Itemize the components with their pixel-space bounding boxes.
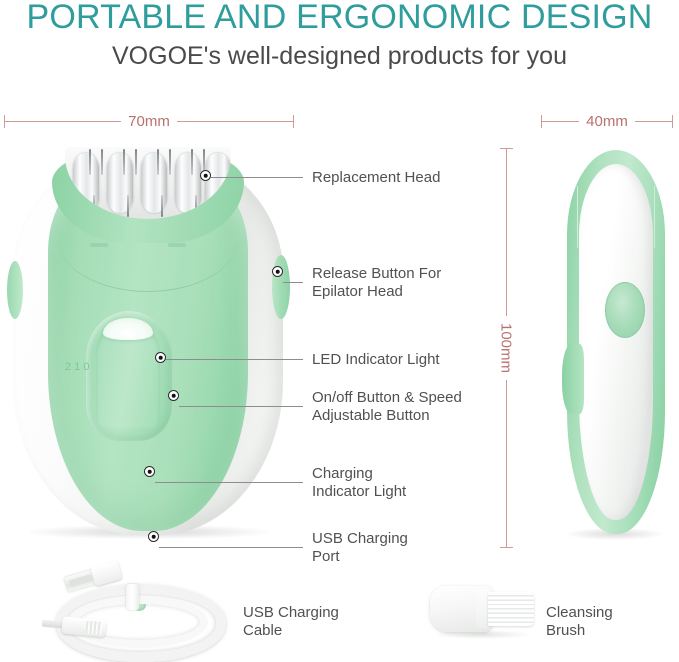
tweezer-pin bbox=[157, 149, 159, 175]
callout-onoff-button: On/off Button & Speed Adjustable Button bbox=[179, 389, 462, 424]
head-notch bbox=[90, 243, 108, 247]
usb-plug-body bbox=[90, 560, 122, 586]
page-title: PORTABLE AND ERGONOMIC DESIGN bbox=[0, 0, 679, 37]
callout-dot-usb-port bbox=[148, 531, 159, 542]
tweezer-pin bbox=[89, 149, 91, 175]
tweezer-disc bbox=[107, 153, 133, 213]
dim-bar-right bbox=[177, 121, 293, 122]
cleansing-brush-label: Cleansing Brush bbox=[546, 604, 613, 640]
release-tab-side bbox=[562, 344, 584, 414]
cleansing-brush-image bbox=[430, 578, 550, 640]
dim-bar-left bbox=[5, 121, 121, 122]
usb-charging-cable-label: USB Charging Cable bbox=[243, 604, 339, 640]
dimension-width-side-label: 40mm bbox=[579, 114, 635, 129]
tweezer-disc bbox=[175, 153, 201, 213]
tweezer-disc bbox=[73, 153, 99, 213]
brush-bristles bbox=[488, 592, 534, 626]
dim-tick-right bbox=[293, 115, 294, 128]
callout-led-indicator: LED Indicator Light bbox=[166, 351, 440, 369]
callout-label: USB Charging Port bbox=[303, 530, 408, 565]
tweezer-pin bbox=[93, 195, 95, 217]
dimension-width-side: 40mm bbox=[541, 110, 673, 132]
body-seam-right bbox=[654, 186, 655, 248]
dim-bar-right bbox=[635, 121, 672, 122]
callout-replacement-head: Replacement Head bbox=[211, 169, 440, 187]
callout-leader-line bbox=[159, 547, 303, 548]
callout-dot-led-indicator bbox=[155, 352, 166, 363]
callout-label: Release Button For Epilator Head bbox=[303, 265, 441, 300]
callout-leader-line bbox=[166, 359, 303, 360]
dim-bar-bottom bbox=[506, 380, 507, 547]
power-button-side bbox=[605, 282, 645, 338]
dim-tick-bottom bbox=[500, 547, 513, 548]
callout-usb-port: USB Charging Port bbox=[159, 530, 408, 565]
callout-dot-charging-indicator bbox=[144, 466, 155, 477]
tweezer-pin bbox=[195, 195, 197, 217]
tweezer-pin bbox=[135, 149, 137, 175]
callout-dot-replacement-head bbox=[200, 170, 211, 181]
callout-label: On/off Button & Speed Adjustable Button bbox=[303, 389, 462, 424]
usb-charging-cable-image bbox=[30, 566, 230, 650]
tweezer-disc bbox=[141, 153, 167, 213]
speed-settings-markings: 2 1 0 bbox=[65, 361, 89, 374]
callout-label: Replacement Head bbox=[303, 169, 440, 187]
callout-leader-line bbox=[283, 282, 303, 283]
dimension-width-front: 70mm bbox=[4, 110, 294, 132]
tweezer-pin bbox=[123, 149, 125, 175]
dim-bar-top bbox=[506, 149, 507, 316]
head-notch bbox=[168, 243, 186, 247]
tweezer-pin bbox=[101, 149, 103, 175]
callout-leader-line bbox=[211, 177, 303, 178]
dim-tick-right bbox=[672, 115, 673, 128]
device-white-body bbox=[579, 164, 653, 520]
callout-release-button: Release Button For Epilator Head bbox=[283, 265, 441, 300]
callout-dot-onoff-button bbox=[168, 390, 179, 401]
dim-bar-left bbox=[542, 121, 579, 122]
epilator-side-view bbox=[553, 150, 677, 550]
dimension-height: 100mm bbox=[495, 148, 517, 548]
callout-leader-line bbox=[155, 482, 303, 483]
product-infographic: PORTABLE AND ERGONOMIC DESIGN VOGOE's we… bbox=[0, 0, 679, 656]
body-seam-left bbox=[577, 186, 578, 248]
release-tab-left bbox=[7, 261, 23, 319]
dimension-height-label: 100mm bbox=[499, 316, 514, 380]
cable-tie bbox=[126, 584, 139, 610]
callout-leader-line bbox=[179, 406, 303, 407]
tweezer-pin bbox=[161, 195, 163, 217]
led-indicator-light bbox=[103, 318, 153, 340]
callout-dot-release-button bbox=[272, 266, 283, 277]
callout-charging-indicator: Charging Indicator Light bbox=[155, 465, 406, 500]
tweezer-pin bbox=[191, 149, 193, 175]
dimension-width-front-label: 70mm bbox=[121, 114, 177, 129]
tweezer-pin bbox=[127, 195, 129, 217]
callout-label: LED Indicator Light bbox=[303, 351, 440, 369]
page-subtitle: VOGOE's well-designed products for you bbox=[0, 42, 679, 71]
tweezer-pin bbox=[169, 149, 171, 175]
callout-label: Charging Indicator Light bbox=[303, 465, 406, 500]
